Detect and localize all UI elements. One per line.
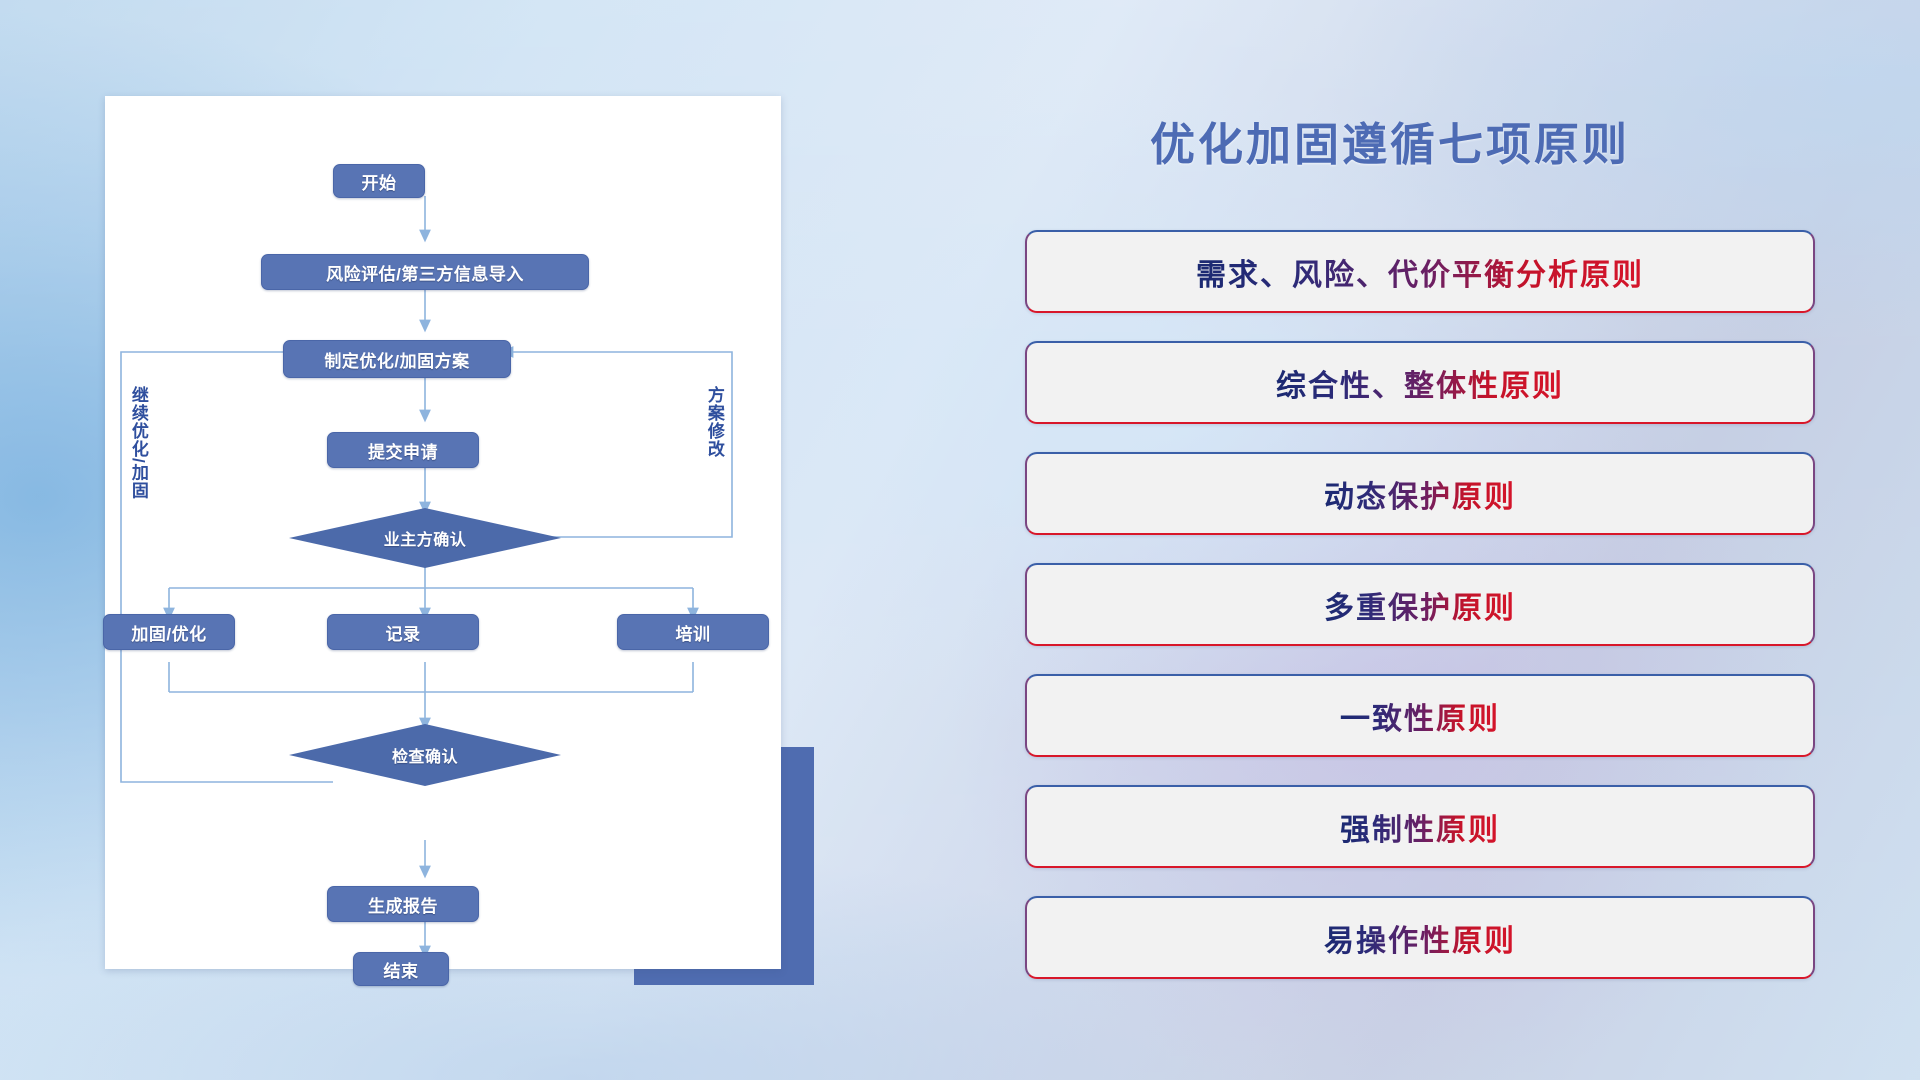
principle-card[interactable]: 一致性原则 [1025, 674, 1815, 757]
principle-label: 多重保护原则 [1324, 583, 1516, 627]
flow-node-submit-application[interactable]: 提交申请 [327, 432, 479, 468]
flow-edge-label-continue-optimize: 继续优化/加固 [129, 386, 147, 556]
flow-node-plan[interactable]: 制定优化/加固方案 [283, 340, 511, 378]
principle-card[interactable]: 多重保护原则 [1025, 563, 1815, 646]
principle-label: 综合性、整体性原则 [1276, 361, 1564, 405]
flow-node-generate-report[interactable]: 生成报告 [327, 886, 479, 922]
flow-node-record[interactable]: 记录 [327, 614, 479, 650]
flow-node-label: 培训 [676, 620, 711, 645]
flow-node-label: 记录 [386, 620, 421, 645]
flow-node-end[interactable]: 结束 [353, 952, 449, 986]
principle-label: 一致性原则 [1340, 694, 1500, 738]
flow-node-label: 生成报告 [368, 892, 438, 917]
flow-node-label: 提交申请 [368, 438, 438, 463]
principle-label: 强制性原则 [1340, 805, 1500, 849]
principle-card[interactable]: 动态保护原则 [1025, 452, 1815, 535]
principle-card[interactable]: 易操作性原则 [1025, 896, 1815, 979]
flow-node-label: 风险评估/第三方信息导入 [326, 260, 524, 285]
principle-card[interactable]: 强制性原则 [1025, 785, 1815, 868]
flow-node-training[interactable]: 培训 [617, 614, 769, 650]
principle-label: 易操作性原则 [1324, 916, 1516, 960]
flowchart-card: 开始 风险评估/第三方信息导入 制定优化/加固方案 提交申请 业主方确认 加固/… [105, 96, 781, 969]
flow-node-label: 检查确认 [392, 743, 458, 767]
flow-node-reinforce-optimize[interactable]: 加固/优化 [103, 614, 235, 650]
page-title: 优化加固遵循七项原则 [1150, 108, 1630, 173]
flow-node-start[interactable]: 开始 [333, 164, 425, 198]
flow-edge-label-plan-revision: 方案修改 [705, 386, 723, 506]
flow-node-risk-assessment[interactable]: 风险评估/第三方信息导入 [261, 254, 589, 290]
flow-node-owner-confirm[interactable]: 业主方确认 [289, 508, 561, 568]
flowchart-region: 开始 风险评估/第三方信息导入 制定优化/加固方案 提交申请 业主方确认 加固/… [0, 0, 880, 1080]
flow-node-label: 制定优化/加固方案 [324, 347, 469, 372]
principles-list: 需求、风险、代价平衡分析原则 综合性、整体性原则 动态保护原则 多重保护原则 一… [1025, 230, 1815, 1007]
flow-node-check-confirm[interactable]: 检查确认 [289, 724, 561, 786]
flow-node-label: 加固/优化 [131, 620, 206, 645]
flow-node-label: 开始 [362, 169, 397, 194]
flow-node-label: 结束 [384, 957, 419, 982]
principle-label: 动态保护原则 [1324, 472, 1516, 516]
flow-node-label: 业主方确认 [384, 526, 467, 550]
principle-card[interactable]: 需求、风险、代价平衡分析原则 [1025, 230, 1815, 313]
principles-panel: 优化加固遵循七项原则 需求、风险、代价平衡分析原则 综合性、整体性原则 动态保护… [1000, 0, 1920, 1080]
principle-card[interactable]: 综合性、整体性原则 [1025, 341, 1815, 424]
principle-label: 需求、风险、代价平衡分析原则 [1196, 250, 1644, 294]
